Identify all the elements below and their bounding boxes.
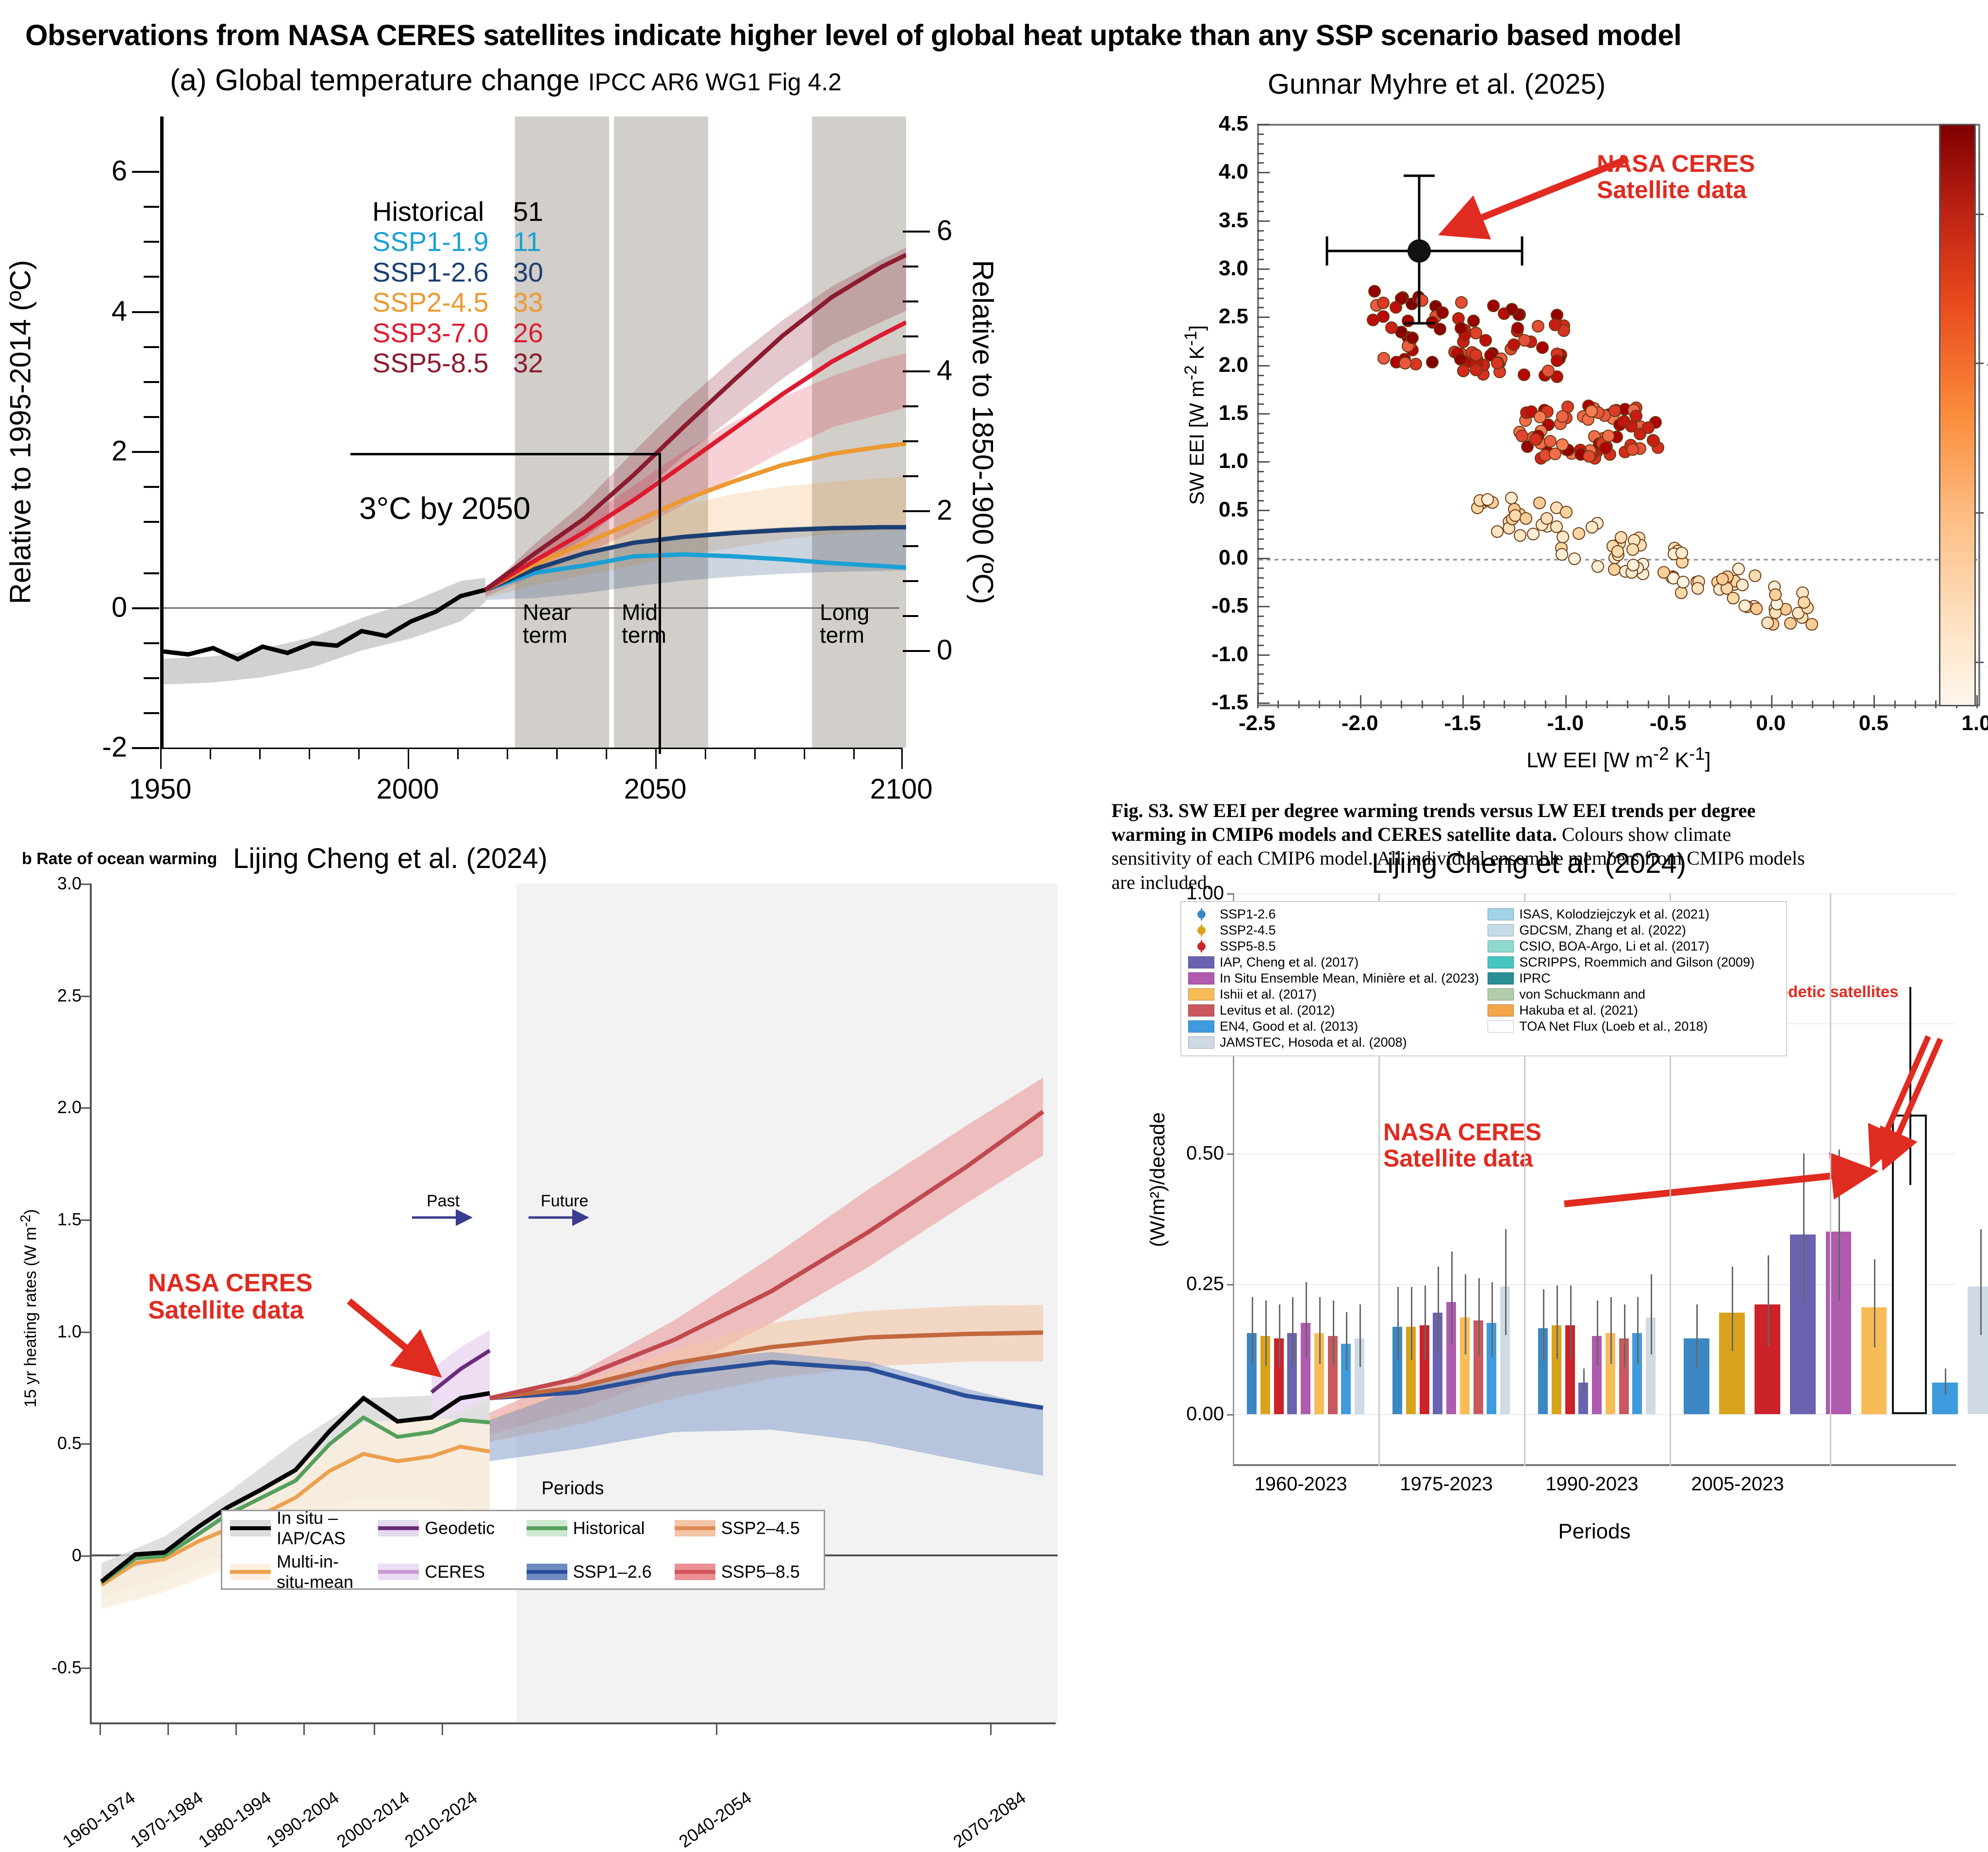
- x-tick: [716, 1723, 717, 1735]
- legend-label: SSP5-8.5: [372, 348, 513, 378]
- y-tick-left-minor: [144, 416, 159, 418]
- legend-item: Ishii et al. (2017): [1188, 987, 1479, 1002]
- y-tick-minor: [1257, 201, 1264, 202]
- x-label: 2000: [376, 773, 439, 805]
- y-tick-left-minor: [144, 276, 159, 278]
- x-label: 1950: [129, 773, 191, 805]
- y-tick-minor: [1257, 645, 1264, 646]
- label-past: Past: [427, 1192, 460, 1211]
- x-tick: [990, 1723, 992, 1735]
- legend-item: In situ – IAP/CAS: [230, 1508, 371, 1549]
- y-tick-minor: [1257, 288, 1264, 289]
- legend-count: 30: [513, 257, 543, 287]
- y-label: 0.5: [1219, 498, 1248, 522]
- legend-item: SSP2–4.5: [675, 1508, 816, 1549]
- y-label-left: 4: [112, 295, 127, 328]
- y-label: 0.25: [1186, 1273, 1224, 1295]
- legend-label: SSP2-4.5: [372, 287, 513, 317]
- legend-label: SSP1-2.6: [372, 257, 513, 287]
- y-tick-left-minor: [144, 642, 159, 644]
- y-tick-minor: [1257, 394, 1264, 395]
- y-tick-left-minor: [144, 206, 159, 208]
- x-tick-minor: [1483, 701, 1485, 708]
- y-tick-minor: [1257, 587, 1264, 588]
- legend-label: SSP5–8.5: [721, 1562, 800, 1582]
- y-tick-minor: [1257, 577, 1264, 579]
- y-tick-right-minor: [903, 266, 918, 267]
- x-tick-minor: [1442, 701, 1443, 708]
- y-tick-left: [132, 171, 159, 173]
- y-tick-minor: [1257, 239, 1264, 241]
- x-label: -1.5: [1444, 711, 1481, 735]
- legend-swatch: [1488, 956, 1514, 968]
- x-tick-minor: [1339, 701, 1341, 708]
- y-tick: [1257, 317, 1270, 318]
- x-label: 2070-2084: [949, 1787, 1029, 1852]
- legend-label: Historical: [372, 197, 513, 227]
- legend-item: SSP1-2.6 30: [372, 257, 543, 287]
- panel-c-tag-title: Rate of ocean warming: [36, 850, 217, 868]
- y-tick-right: [903, 370, 930, 372]
- legend-swatch: [1188, 1004, 1214, 1017]
- panel-rate-of-ocean-warming: b Rate of ocean warming Lijing Cheng et …: [0, 842, 1058, 1600]
- legend-item: Historical 51: [372, 197, 543, 227]
- legend-swatch: [1188, 1020, 1214, 1033]
- x-label: 2050: [624, 773, 686, 805]
- x-tick-minor: [1545, 701, 1546, 708]
- legend-label: CERES: [425, 1562, 485, 1582]
- y-tick-minor: [1257, 693, 1264, 694]
- y-tick-right: [903, 231, 930, 233]
- y-label-right: 6: [937, 215, 952, 247]
- legend-count: 26: [513, 318, 543, 348]
- x-tick-minor: [1586, 701, 1587, 708]
- ceres-annotation-line1: NASA CERES: [148, 1269, 313, 1297]
- y-tick-right-minor: [903, 545, 918, 547]
- legend-item: SSP2-4.5: [1188, 923, 1479, 938]
- legend-count: 33: [513, 287, 543, 317]
- x-tick-major: [901, 748, 903, 769]
- x-tick: [1668, 695, 1670, 708]
- y-tick-left-minor: [144, 241, 159, 243]
- y-tick: [1227, 1284, 1234, 1285]
- y-tick-right-minor: [903, 615, 918, 617]
- legend-item: JAMSTEC, Hosoda et al. (2008): [1188, 1035, 1479, 1050]
- legend-item: SSP5–8.5: [675, 1552, 816, 1592]
- y-label-right: 0: [937, 634, 952, 667]
- legend-item: SSP1-2.6: [1188, 907, 1479, 922]
- x-tick-minor: [1319, 701, 1320, 708]
- legend-marker: [1188, 908, 1214, 920]
- x-tick: [374, 1723, 375, 1735]
- legend-label: CSIO, BOA-Argo, Li et al. (2017): [1519, 939, 1709, 954]
- x-tick-minor: [1298, 701, 1300, 708]
- legend-item: Historical: [527, 1508, 668, 1549]
- y-tick: [1257, 461, 1270, 463]
- y-tick-minor: [1257, 182, 1264, 183]
- y-axis-title-right: Relative to 1850-1900 (ºC): [966, 260, 1000, 604]
- ceres-annotation-line2: Satellite data: [1383, 1145, 1533, 1172]
- y-tick-left: [132, 311, 159, 313]
- y-tick-left: [132, 607, 159, 609]
- y-tick-left-minor: [144, 521, 159, 523]
- x-label: -2.0: [1342, 711, 1378, 735]
- x-label: -1.0: [1547, 711, 1584, 735]
- y-tick: [1257, 268, 1270, 270]
- y-label: 3.5: [1219, 208, 1248, 233]
- y-tick-minor: [1257, 336, 1264, 337]
- legend-item: IPRC: [1488, 971, 1755, 986]
- y-label: 1.0: [1219, 449, 1248, 473]
- y-tick: [81, 1668, 90, 1669]
- y-tick-left-minor: [144, 712, 159, 714]
- legend-label: In situ – IAP/CAS: [277, 1508, 371, 1549]
- legend-label: ISAS, Kolodziejczyk et al. (2021): [1519, 907, 1709, 922]
- y-tick-minor: [1257, 153, 1264, 154]
- legend-label: SSP2–4.5: [721, 1518, 800, 1538]
- x-tick: [442, 1723, 443, 1735]
- y-tick-minor: [1257, 307, 1264, 308]
- x-tick-minor: [1935, 701, 1937, 708]
- legend-label: SSP5-8.5: [1220, 939, 1276, 954]
- y-tick-left-minor: [144, 572, 159, 574]
- legend-swatch: [1188, 956, 1214, 968]
- y-tick: [81, 1219, 90, 1221]
- legend-item: In Situ Ensemble Mean, Minière et al. (2…: [1188, 971, 1479, 986]
- panel-heat-uptake-bars: Lijing Cheng et al. (2024): [1073, 879, 1985, 1607]
- annotation-3c-bracket-horizontal: [350, 453, 661, 455]
- legend-item: Multi-in-situ-mean: [230, 1552, 371, 1592]
- y-tick: [1257, 654, 1270, 656]
- y-label: 1.5: [57, 1209, 82, 1230]
- x-tick-minor: [210, 748, 211, 759]
- legend-label: von Schuckmann and: [1519, 987, 1645, 1002]
- y-tick-right-minor: [903, 300, 918, 302]
- band-label-long-term: Longterm: [820, 601, 869, 647]
- y-tick-minor: [1257, 143, 1264, 145]
- x-tick: [303, 1723, 305, 1735]
- x-label: 2100: [870, 773, 932, 805]
- y-label-left: 6: [112, 155, 127, 187]
- x-label: 1975-2023: [1400, 1473, 1492, 1495]
- y-label: 0.5: [57, 1433, 82, 1453]
- x-label: 2010-2024: [401, 1787, 481, 1852]
- y-label: 0.50: [1186, 1143, 1224, 1165]
- legend-label: IPRC: [1519, 971, 1551, 986]
- x-label: -0.5: [1650, 711, 1687, 735]
- y-tick-minor: [1257, 298, 1264, 299]
- x-label: 1960-1974: [59, 1787, 139, 1852]
- legend-item: TOA Net Flux (Loeb et al., 2018): [1488, 1019, 1755, 1034]
- y-tick-minor: [1257, 664, 1264, 666]
- legend-label: Ishii et al. (2017): [1220, 987, 1317, 1002]
- y-tick-minor: [1257, 423, 1264, 424]
- panel-b-colorbar: [1939, 124, 1976, 706]
- y-tick-minor: [1257, 375, 1264, 376]
- x-tick-minor: [1750, 701, 1752, 708]
- y-label: 4.0: [1219, 160, 1248, 184]
- panel-eei-scatter: Gunnar Myhre et al. (2025) NASA CERES Sa…: [1073, 68, 1985, 825]
- x-tick-minor: [1524, 701, 1525, 708]
- y-tick-left-minor: [144, 381, 159, 383]
- y-tick-right-minor: [903, 475, 918, 477]
- x-label: 1960-2023: [1254, 1473, 1347, 1495]
- y-tick-left-minor: [144, 677, 159, 679]
- y-tick-minor: [1257, 538, 1264, 540]
- panel-d-legend-column-2: ISAS, Kolodziejczyk et al. (2021) GDCSM,…: [1488, 907, 1755, 1051]
- legend-label: JAMSTEC, Hosoda et al. (2008): [1220, 1035, 1407, 1050]
- legend-swatch: [1488, 940, 1514, 952]
- y-axis-title-left: Relative to 1995-2014 (ºC): [4, 260, 37, 604]
- y-label: -0.5: [1211, 594, 1248, 618]
- panel-b-y-axis-title: SW EEI [W m-2 K-1]: [1181, 325, 1209, 505]
- y-tick-minor: [1257, 211, 1264, 212]
- legend-item: SSP1-1.9 11: [372, 227, 543, 257]
- legend-label: SSP1-2.6: [1220, 907, 1276, 922]
- y-label-right: 4: [937, 354, 952, 387]
- y-tick: [1257, 220, 1270, 222]
- panel-d-title: Lijing Cheng et al. (2024): [1189, 847, 1869, 880]
- panel-c-tag: b Rate of ocean warming: [22, 850, 217, 868]
- legend-item: SSP2-4.5 33: [372, 287, 543, 317]
- panel-a-plot-area: Nearterm Midterm Longterm Historical 51 …: [160, 117, 903, 748]
- legend-label: In Situ Ensemble Mean, Minière et al. (2…: [1220, 971, 1479, 986]
- y-tick-minor: [1257, 230, 1264, 232]
- y-tick-minor: [1257, 162, 1264, 164]
- y-tick-minor: [1257, 384, 1264, 385]
- y-tick-left: [132, 747, 159, 749]
- legend-item: SSP3-7.0 26: [372, 318, 543, 348]
- panel-a-legend: Historical 51 SSP1-1.9 11 SSP1-2.6 30 SS…: [372, 197, 543, 379]
- y-tick-minor: [1257, 403, 1264, 405]
- x-tick-minor: [1853, 701, 1855, 708]
- x-label: 1980-1994: [195, 1787, 275, 1852]
- y-label: 1.0: [57, 1321, 82, 1342]
- legend-item: Levitus et al. (2012): [1188, 1003, 1479, 1018]
- x-tick-major: [408, 748, 409, 769]
- bar: [1968, 1286, 1988, 1414]
- legend-item: GDCSM, Zhang et al. (2022): [1488, 923, 1755, 938]
- x-tick-major: [655, 748, 657, 769]
- x-tick: [1360, 695, 1361, 708]
- y-tick: [81, 884, 90, 885]
- legend-swatch: [1188, 988, 1214, 1001]
- x-label: 1970-1984: [127, 1787, 207, 1852]
- x-tick-minor: [1689, 701, 1690, 708]
- ceres-annotation-label-b: NASA CERES Satellite data: [1597, 150, 1755, 203]
- y-tick: [1227, 1414, 1234, 1416]
- y-tick-minor: [1257, 355, 1264, 357]
- y-tick-right-minor: [903, 440, 918, 442]
- y-tick-right-minor: [903, 405, 918, 407]
- colorbar-tick: [1976, 214, 1984, 215]
- legend-item: SSP5-8.5 32: [372, 348, 543, 378]
- legend-swatch: [1488, 972, 1514, 984]
- y-label-left: 0: [112, 591, 127, 624]
- legend-label: Levitus et al. (2012): [1220, 1003, 1335, 1018]
- legend-label: SSP3-7.0: [372, 318, 513, 348]
- legend-item: von Schuckmann and: [1488, 987, 1755, 1002]
- panel-c-tag-letter: b: [22, 850, 32, 868]
- panel-b-plot-area: [1257, 124, 1980, 706]
- y-tick-minor: [1257, 500, 1264, 501]
- legend-item: Geodetic: [378, 1508, 519, 1549]
- y-tick-minor: [1257, 683, 1264, 684]
- y-tick-minor: [1257, 133, 1264, 135]
- x-label: 0.0: [1756, 711, 1786, 735]
- y-tick: [1257, 558, 1270, 559]
- legend-swatch: [1188, 1036, 1214, 1049]
- y-tick-minor: [1257, 346, 1264, 347]
- legend-swatch: [230, 1520, 271, 1536]
- panel-d-y-axis-title: (W/m²)/decade: [1146, 1112, 1169, 1247]
- x-tick-minor: [1709, 701, 1711, 708]
- x-tick-minor: [309, 748, 310, 759]
- x-label: 1990-2023: [1545, 1473, 1638, 1495]
- x-tick: [1873, 695, 1875, 708]
- y-label: -1.0: [1211, 642, 1248, 667]
- x-label: -2.5: [1239, 711, 1276, 735]
- legend-item: CERES: [378, 1552, 519, 1592]
- x-tick-minor: [1607, 701, 1608, 708]
- legend-label: Historical: [573, 1518, 645, 1538]
- legend-count: 51: [513, 197, 543, 227]
- panel-b-title: Gunnar Myhre et al. (2025): [1073, 68, 1801, 100]
- x-tick: [99, 1723, 101, 1735]
- y-tick: [1227, 893, 1234, 895]
- y-tick-minor: [1257, 635, 1264, 636]
- x-tick-minor: [1730, 701, 1731, 708]
- y-tick-right: [903, 510, 930, 512]
- ceres-annotation-arrow: [1259, 126, 1978, 704]
- y-tick: [1257, 606, 1270, 607]
- x-label: 2040-2054: [675, 1787, 755, 1852]
- legend-swatch: [230, 1564, 271, 1580]
- y-label: 3.0: [57, 873, 82, 894]
- x-tick-minor: [358, 748, 360, 759]
- panel-a-title: (a) Global temperature change IPCC AR6 W…: [170, 63, 842, 98]
- ceres-annotation-label-d: NASA CERES Satellite data: [1383, 1119, 1541, 1171]
- colorbar-tick: [1976, 363, 1984, 364]
- y-tick-minor: [1257, 249, 1264, 250]
- legend-swatch: [1488, 988, 1514, 1001]
- legend-label: Multi-in-situ-mean: [277, 1552, 371, 1592]
- y-tick-minor: [1257, 259, 1264, 260]
- error-bar: [1980, 1229, 1982, 1335]
- y-label: 2.0: [57, 1097, 82, 1118]
- x-label: 0.5: [1859, 711, 1889, 735]
- x-tick: [1771, 695, 1773, 708]
- ceres-annotation-line1: NASA CERES: [1383, 1118, 1541, 1146]
- y-tick-minor: [1257, 548, 1264, 550]
- panel-c-legend: In situ – IAP/CAS Geodetic Historical SS…: [221, 1510, 825, 1590]
- y-label-left: 2: [112, 435, 127, 467]
- panel-c-title: Lijing Cheng et al. (2024): [233, 842, 547, 875]
- ceres-annotation-line2: Satellite data: [148, 1296, 304, 1324]
- panel-c-y-axis-title: 15 yr heating rates (W m-2): [18, 1209, 40, 1408]
- legend-swatch: [1488, 908, 1514, 920]
- legend-label: TOA Net Flux (Loeb et al., 2018): [1519, 1019, 1707, 1034]
- x-tick-minor: [1812, 701, 1813, 708]
- legend-label: SCRIPPS, Roemmich and Gilson (2009): [1519, 955, 1755, 970]
- legend-swatch: [378, 1520, 419, 1536]
- x-tick-minor: [1401, 701, 1402, 708]
- label-future: Future: [541, 1192, 588, 1211]
- legend-swatch: [527, 1564, 567, 1580]
- y-tick: [1257, 702, 1270, 704]
- x-tick-minor: [1277, 701, 1279, 708]
- panel-a-x-axis: 1950 2000 2050 2100: [160, 748, 903, 749]
- y-tick-minor: [1257, 191, 1264, 193]
- y-tick-minor: [1257, 481, 1264, 482]
- y-tick-minor: [1257, 673, 1264, 675]
- y-tick: [81, 996, 90, 997]
- panel-a-source: IPCC AR6 WG1 Fig 4.2: [588, 68, 842, 96]
- x-tick: [1257, 695, 1259, 708]
- legend-swatch: [675, 1520, 715, 1536]
- x-tick: [235, 1723, 237, 1735]
- panel-global-temperature-change: (a) Global temperature change IPCC AR6 W…: [0, 63, 976, 825]
- legend-count: 11: [513, 227, 541, 257]
- legend-swatch: [378, 1564, 419, 1580]
- x-tick: [1462, 695, 1464, 708]
- x-label: 2005-2023: [1691, 1473, 1784, 1495]
- y-tick-minor: [1257, 519, 1264, 521]
- legend-item: SSP1–2.6: [527, 1552, 668, 1592]
- y-label: 0.0: [1219, 546, 1248, 570]
- legend-item: Hakuba et al. (2021): [1488, 1003, 1755, 1018]
- y-label: 2.5: [1219, 304, 1248, 329]
- x-tick: [1565, 695, 1567, 708]
- y-tick-minor: [1257, 529, 1264, 530]
- y-tick: [1257, 172, 1270, 173]
- y-tick-minor: [1257, 490, 1264, 492]
- y-tick-left-minor: [144, 486, 159, 488]
- y-tick-minor: [1257, 471, 1264, 472]
- y-label: 3.0: [1219, 256, 1248, 281]
- legend-marker: [1188, 940, 1214, 952]
- y-label: 1.5: [1219, 401, 1248, 425]
- x-tick-minor: [1504, 701, 1505, 708]
- colorbar-tick: [1976, 512, 1984, 514]
- legend-label: SSP1–2.6: [573, 1562, 652, 1582]
- panel-a-title-text: (a) Global temperature change: [170, 64, 580, 97]
- x-tick-major: [160, 748, 162, 769]
- y-tick: [1257, 413, 1270, 415]
- legend-swatch: [1488, 1004, 1514, 1017]
- y-label: 0: [72, 1545, 82, 1566]
- x-tick-minor: [1648, 701, 1649, 708]
- x-tick-minor: [1791, 701, 1793, 708]
- y-tick-minor: [1257, 278, 1264, 280]
- y-tick-minor: [1257, 433, 1264, 434]
- page-title: Observations from NASA CERES satellites …: [25, 18, 1967, 52]
- y-tick-left-minor: [144, 346, 159, 348]
- y-tick: [1257, 365, 1270, 367]
- legend-label: SSP2-4.5: [1220, 923, 1276, 938]
- legend-label: Hakuba et al. (2021): [1519, 1003, 1638, 1018]
- ceres-annotation-line1: NASA CERES: [1597, 150, 1755, 177]
- x-tick-minor: [1915, 701, 1916, 708]
- legend-label: GDCSM, Zhang et al. (2022): [1519, 923, 1686, 938]
- y-tick-minor: [1257, 625, 1264, 627]
- band-label-near-term: Nearterm: [523, 601, 571, 647]
- y-tick-minor: [1257, 596, 1264, 598]
- y-tick: [81, 1443, 90, 1445]
- x-tick-minor: [804, 748, 805, 759]
- y-tick: [81, 1555, 90, 1557]
- x-tick-minor: [457, 748, 459, 759]
